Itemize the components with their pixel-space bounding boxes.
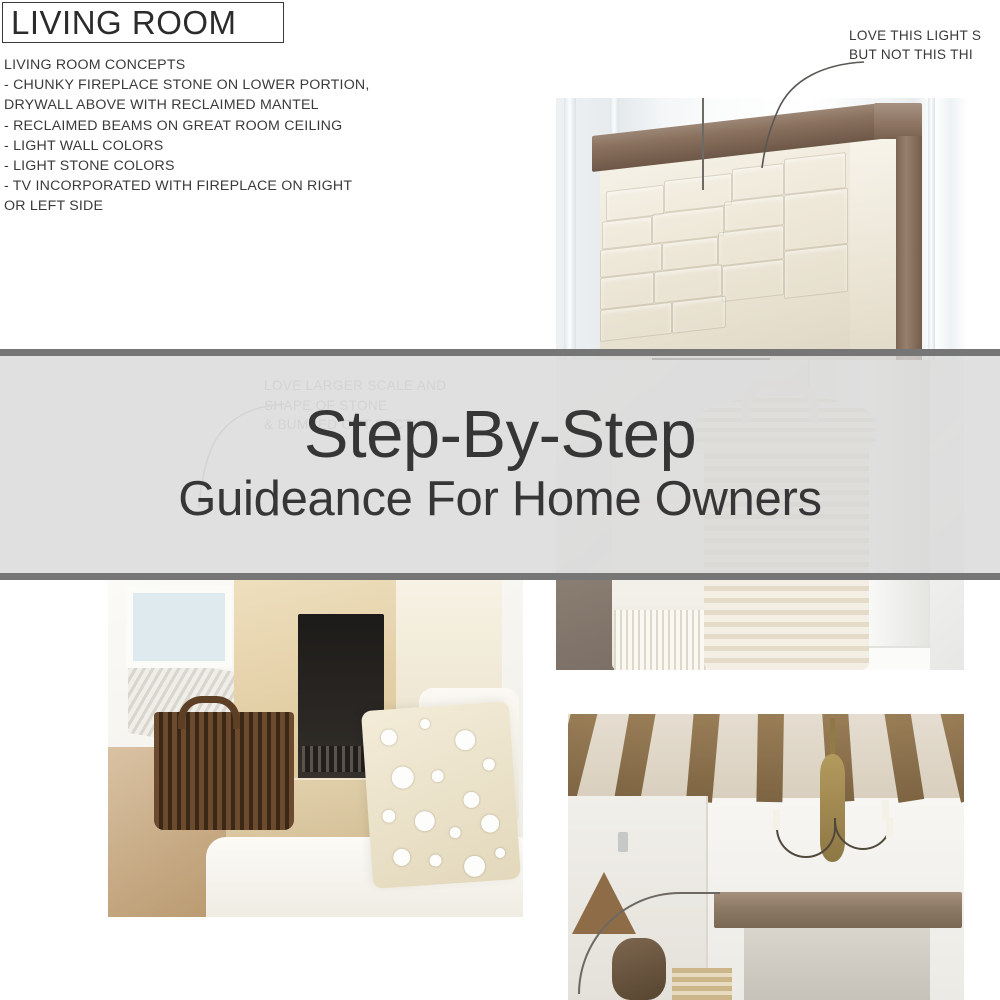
- page-title-box: LIVING ROOM: [2, 2, 284, 43]
- annotation-line: LOVE THIS LIGHT S: [849, 26, 1000, 45]
- page-title: LIVING ROOM: [11, 6, 237, 39]
- note-line: OR LEFT SIDE: [4, 196, 434, 216]
- photo-content: [108, 578, 523, 917]
- note-line: - LIGHT STONE COLORS: [4, 156, 434, 176]
- photo-fireplace-basket-pillow: [108, 578, 523, 917]
- concept-notes-list: LIVING ROOM CONCEPTS - CHUNKY FIREPLACE …: [4, 55, 434, 217]
- banner-title: Step-By-Step: [304, 400, 696, 470]
- annotation-line: BUT NOT THIS THI: [849, 45, 1000, 64]
- note-line: DRYWALL ABOVE WITH RECLAIMED MANTEL: [4, 95, 434, 115]
- note-line: - CHUNKY FIREPLACE STONE ON LOWER PORTIO…: [4, 75, 434, 95]
- note-line: - TV INCORPORATED WITH FIREPLACE ON RIGH…: [4, 176, 434, 196]
- note-line: LIVING ROOM CONCEPTS: [4, 55, 434, 75]
- concept-board: LIVING ROOM LIVING ROOM CONCEPTS - CHUNK…: [0, 0, 1000, 1000]
- photo-content: [568, 714, 964, 1000]
- photo-beamed-ceiling-chandelier: [568, 714, 964, 1000]
- overlay-banner: Step-By-Step Guideance For Home Owners: [0, 349, 1000, 580]
- note-line: - LIGHT WALL COLORS: [4, 136, 434, 156]
- banner-subtitle: Guideance For Home Owners: [178, 472, 821, 526]
- annotation-top-right: LOVE THIS LIGHT S BUT NOT THIS THI: [849, 26, 1000, 64]
- note-line: - RECLAIMED BEAMS ON GREAT ROOM CEILING: [4, 116, 434, 136]
